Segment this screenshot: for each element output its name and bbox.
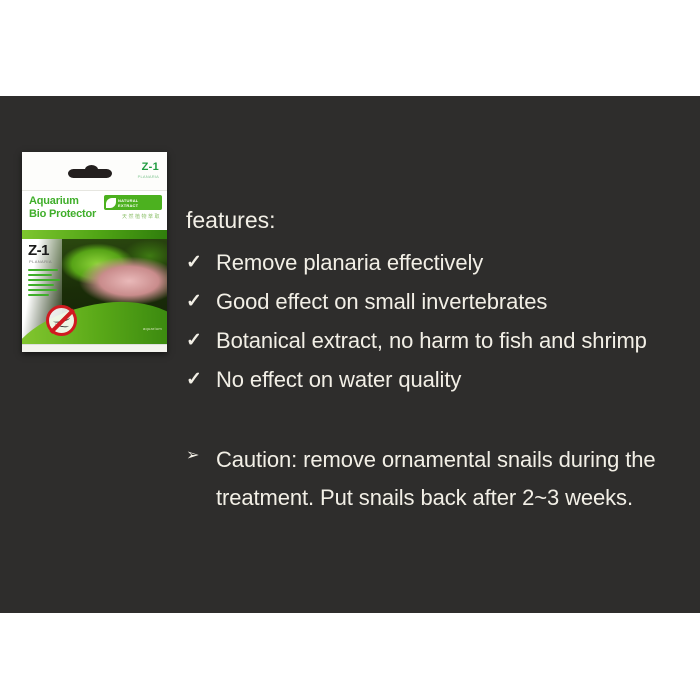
check-icon: ✓ xyxy=(186,326,216,356)
package-code-top-subtitle: PLANARIA xyxy=(138,174,159,179)
feature-item: ✓ Remove planaria effectively xyxy=(186,248,692,278)
features-list: ✓ Remove planaria effectively ✓ Good eff… xyxy=(186,248,692,395)
feature-text: Good effect on small invertebrates xyxy=(216,287,547,317)
package-chinese-text: 天然植物萃取 xyxy=(122,213,161,220)
feature-item: ✓ No effect on water quality xyxy=(186,365,692,395)
badge-text-line2: EXTRACT xyxy=(118,203,138,208)
no-planaria-prohibition-icon xyxy=(46,305,77,336)
package-green-band xyxy=(22,230,167,239)
product-info-panel: Z-1 PLANARIA Aquarium Bio Protector NATU… xyxy=(0,96,700,613)
feature-item: ✓ Botanical extract, no harm to fish and… xyxy=(186,326,692,356)
package-header: Z-1 PLANARIA xyxy=(22,152,167,190)
package-code-top: Z-1 xyxy=(142,162,159,173)
check-icon: ✓ xyxy=(186,287,216,317)
hang-tab-hole-icon xyxy=(68,169,112,178)
feature-text: No effect on water quality xyxy=(216,365,461,395)
natural-extract-badge-text: NATURAL EXTRACT xyxy=(118,198,138,208)
check-icon: ✓ xyxy=(186,365,216,395)
package-footer-strip xyxy=(22,344,167,352)
check-icon: ✓ xyxy=(186,248,216,278)
package-aquarium-photo: Z-1 PLANARIA aquarium xyxy=(22,239,167,344)
features-heading: features: xyxy=(186,206,692,234)
features-content: features: ✓ Remove planaria effectively … xyxy=(186,206,692,517)
planaria-worm-icon-2 xyxy=(55,321,70,328)
package-photo-credit: aquarium xyxy=(143,326,162,331)
natural-extract-badge: NATURAL EXTRACT xyxy=(104,195,162,210)
caution-list: ➢ Caution: remove ornamental snails duri… xyxy=(186,441,692,517)
package-code-main: Z-1 xyxy=(28,243,49,258)
package-title-band: Aquarium Bio Protector NATURAL EXTRACT 天… xyxy=(22,190,167,230)
leaf-icon xyxy=(106,198,116,208)
arrow-bullet-icon: ➢ xyxy=(186,441,216,471)
package-feature-lines xyxy=(28,269,62,299)
feature-text: Remove planaria effectively xyxy=(216,248,483,278)
product-package-image: Z-1 PLANARIA Aquarium Bio Protector NATU… xyxy=(22,152,167,352)
page-root: Z-1 PLANARIA Aquarium Bio Protector NATU… xyxy=(0,0,700,700)
caution-item: ➢ Caution: remove ornamental snails duri… xyxy=(186,441,692,517)
feature-text: Botanical extract, no harm to fish and s… xyxy=(216,326,647,356)
package-code-main-subtitle: PLANARIA xyxy=(29,259,52,264)
feature-item: ✓ Good effect on small invertebrates xyxy=(186,287,692,317)
badge-text-line1: NATURAL xyxy=(118,198,138,203)
caution-text: Caution: remove ornamental snails during… xyxy=(216,441,692,517)
